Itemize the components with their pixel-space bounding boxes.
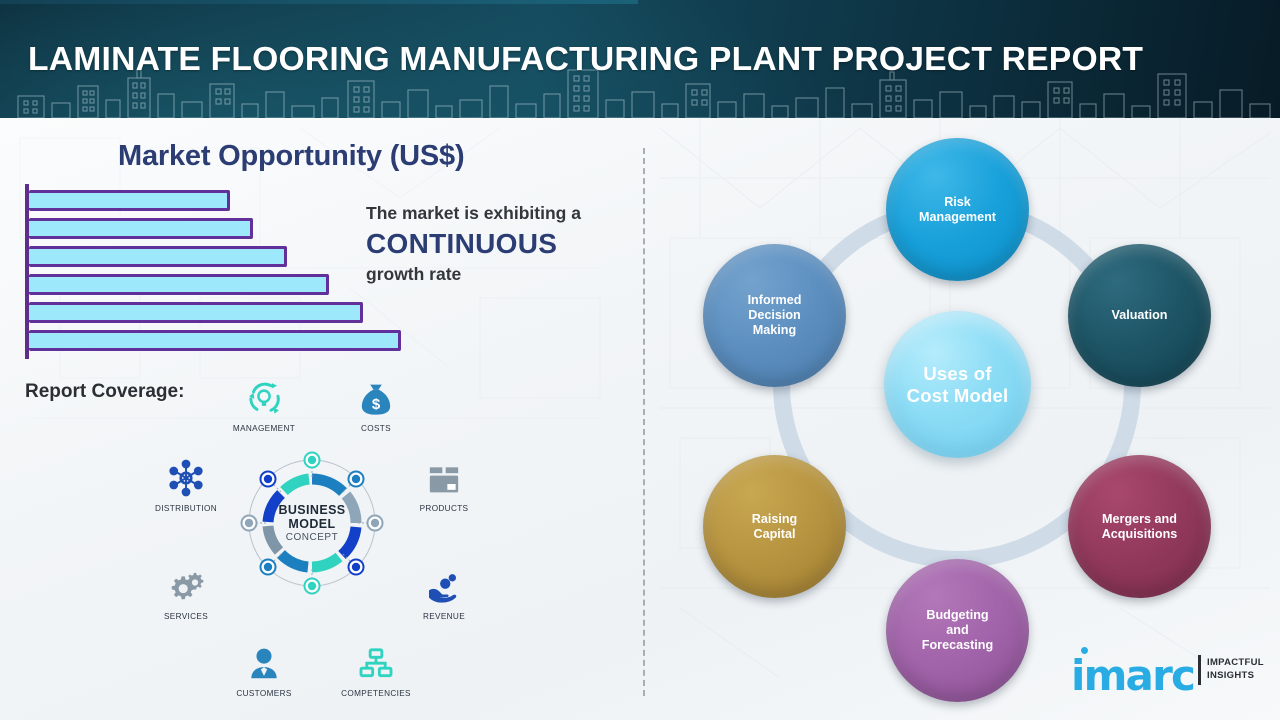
growth-line-3: growth rate (366, 263, 636, 286)
node-mergers-and-acquisitions[interactable]: Mergers and Acquisitions (1068, 455, 1211, 598)
node-line2: Decision (742, 308, 808, 323)
node-line2: Management (913, 210, 1002, 225)
node-line2: and (916, 623, 999, 638)
svg-text:$: $ (372, 396, 381, 413)
bar-row (29, 274, 329, 295)
user-person-icon (218, 638, 310, 684)
node-line1: Informed (742, 293, 808, 308)
logo-tagline: IMPACTFUL INSIGHTS (1207, 657, 1264, 683)
growth-line-2-highlight: CONTINUOUS (366, 225, 636, 263)
network-nodes-icon (140, 453, 232, 499)
coverage-item-competencies: COMPETENCIES (330, 638, 422, 698)
logo-tagline-line2: INSIGHTS (1207, 670, 1264, 683)
org-chart-icon (330, 638, 422, 684)
header-notch (0, 0, 638, 4)
market-opportunity-bar-chart (25, 184, 405, 359)
coverage-label-text: PRODUCTS (398, 504, 490, 513)
left-panel: Market Opportunity (US$) The market is e… (0, 118, 643, 720)
coverage-item-management: MANAGEMENT (218, 373, 310, 433)
imarc-logo: imarc IMPACTFUL INSIGHTS (1071, 643, 1261, 695)
bar-row (29, 302, 363, 323)
recycle-lightbulb-icon (218, 373, 310, 419)
coverage-item-customers: CUSTOMERS (218, 638, 310, 698)
node-valuation[interactable]: Valuation (1068, 244, 1211, 387)
coverage-item-services: SERVICES (140, 561, 232, 621)
node-line2: Capital (746, 527, 804, 542)
coverage-label-text: SERVICES (140, 612, 232, 621)
logo-divider-bar (1198, 655, 1201, 685)
node-raising-capital[interactable]: Raising Capital (703, 455, 846, 598)
gears-icon (140, 561, 232, 607)
node-budgeting-and-forecasting[interactable]: Budgeting and Forecasting (886, 559, 1029, 702)
node-line3: Forecasting (916, 638, 999, 653)
node-line1: Risk (913, 195, 1002, 210)
center-node-line1: Uses of (901, 363, 1015, 385)
coverage-label-text: DISTRIBUTION (140, 504, 232, 513)
page-header: LAMINATE FLOORING MANUFACTURING PLANT PR… (0, 0, 1280, 118)
coverage-label-text: MANAGEMENT (218, 424, 310, 433)
bar-row (29, 218, 253, 239)
money-bag-icon: $ (330, 373, 422, 419)
node-line1: Budgeting (916, 608, 999, 623)
center-node-line2: Cost Model (901, 385, 1015, 407)
logo-wordmark: imarc (1071, 651, 1194, 700)
logo-tagline-line1: IMPACTFUL (1207, 657, 1264, 670)
coverage-label-text: REVENUE (398, 612, 490, 621)
market-opportunity-title: Market Opportunity (US$) (118, 140, 464, 173)
coverage-label-text: CUSTOMERS (218, 689, 310, 698)
bar-row (29, 330, 401, 351)
coverage-item-products: PRODUCTS (398, 453, 490, 513)
coverage-label-text: COMPETENCIES (330, 689, 422, 698)
right-panel: Uses of Cost Model Risk Management Valua… (643, 118, 1280, 720)
node-line2: Acquisitions (1096, 527, 1184, 542)
coverage-item-distribution: DISTRIBUTION (140, 453, 232, 513)
node-line1: Valuation (1106, 308, 1174, 323)
bar-row (29, 246, 287, 267)
hand-coins-icon (398, 561, 490, 607)
growth-statement: The market is exhibiting a CONTINUOUS gr… (366, 202, 636, 285)
business-model-wheel: BUSINESS MODEL CONCEPT (238, 449, 386, 597)
node-line1: Raising (746, 512, 804, 527)
node-risk-management[interactable]: Risk Management (886, 138, 1029, 281)
report-coverage-cluster: MANAGEMENT $ COSTS (140, 373, 480, 703)
growth-line-1: The market is exhibiting a (366, 202, 636, 225)
node-line1: Mergers and (1096, 512, 1184, 527)
center-node-uses-of-cost-model: Uses of Cost Model (884, 311, 1031, 458)
coverage-item-revenue: REVENUE (398, 561, 490, 621)
bar-row (29, 190, 230, 211)
node-line3: Making (742, 323, 808, 338)
page-title: LAMINATE FLOORING MANUFACTURING PLANT PR… (28, 40, 1143, 78)
coverage-label-text: COSTS (330, 424, 422, 433)
coverage-item-costs: $ COSTS (330, 373, 422, 433)
package-box-icon (398, 453, 490, 499)
node-informed-decision-making[interactable]: Informed Decision Making (703, 244, 846, 387)
